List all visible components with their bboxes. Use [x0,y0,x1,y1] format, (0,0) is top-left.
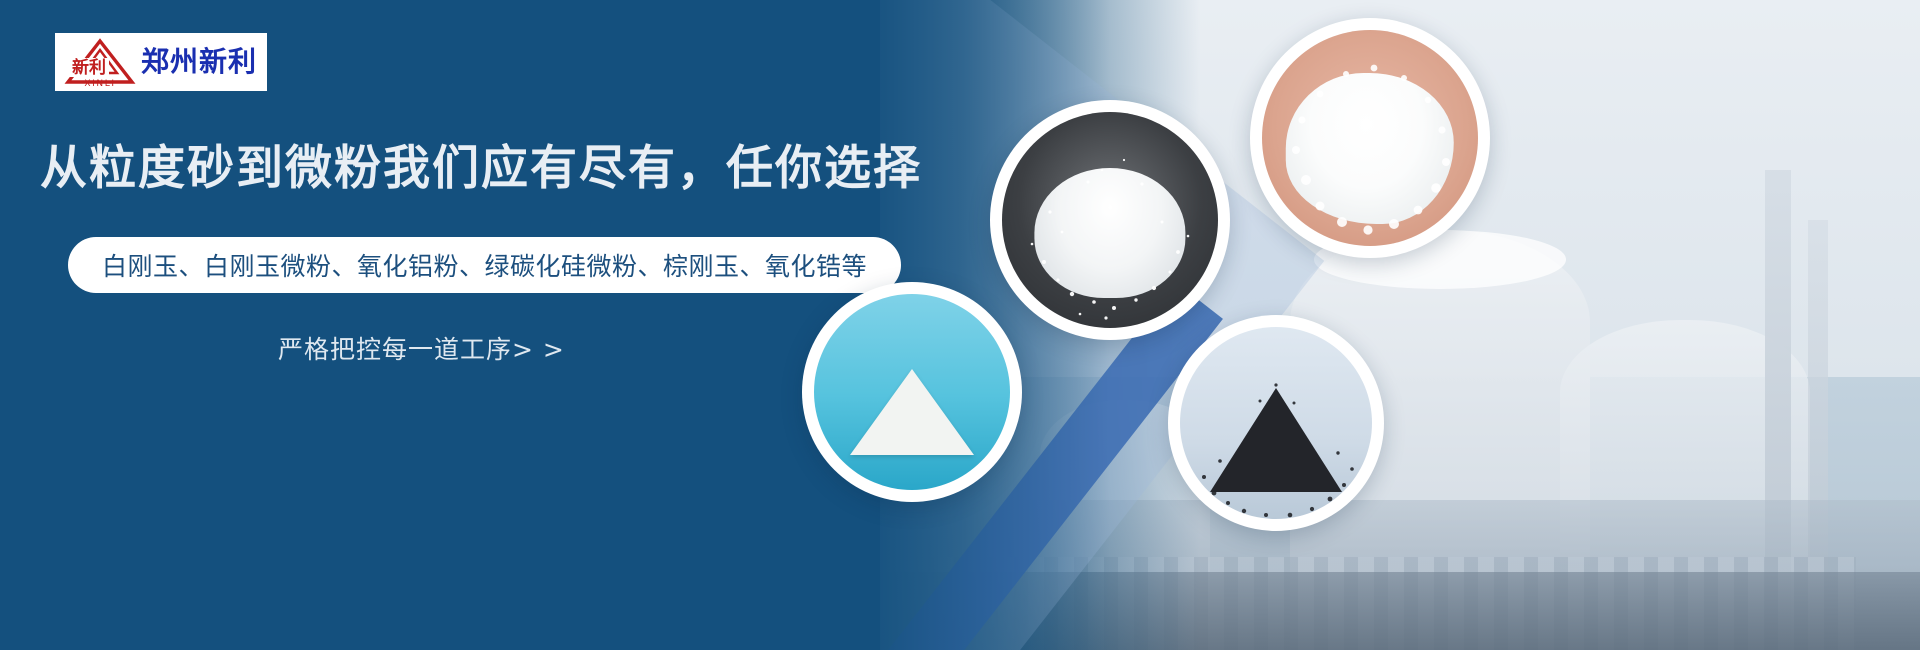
svg-text:XINLI: XINLI [84,79,115,87]
white-granule-heap [1034,168,1185,298]
product-list-pill[interactable]: 白刚玉、白刚玉微粉、氧化铝粉、绿碳化硅微粉、棕刚玉、氧化锆等 [68,237,901,293]
brand-color-block [0,0,880,650]
product-photo-white-micropowder-image [1262,30,1478,246]
xinli-triangle-icon: 新利 XINLI [63,37,137,87]
headline-text: 从粒度砂到微粉我们应有尽有，任你选择 [40,143,922,195]
product-photo-powder-cone[interactable] [802,282,1022,502]
subline-cta[interactable]: 严格把控每一道工序> > [278,330,565,366]
white-micropowder-heap [1286,73,1454,224]
product-photo-white-granule[interactable] [990,100,1230,340]
dark-granule-heap [1210,388,1342,492]
product-photo-dark-granule-image [1180,327,1372,519]
product-photo-white-micropowder[interactable] [1250,18,1490,258]
logo-company-name: 郑州新利 [141,48,257,76]
product-photo-dark-granule[interactable] [1168,315,1384,531]
svg-text:新利: 新利 [72,57,106,78]
promotional-banner: 新利 XINLI 郑州新利 从粒度砂到微粉我们应有尽有，任你选择 白刚玉、白刚玉… [0,0,1920,650]
powder-cone-heap [850,369,974,455]
product-photo-powder-cone-image [814,294,1010,490]
company-logo[interactable]: 新利 XINLI 郑州新利 [55,33,267,91]
product-list-text: 白刚玉、白刚玉微粉、氧化铝粉、绿碳化硅微粉、棕刚玉、氧化锆等 [102,247,867,283]
product-photo-white-granule-image [1002,112,1218,328]
